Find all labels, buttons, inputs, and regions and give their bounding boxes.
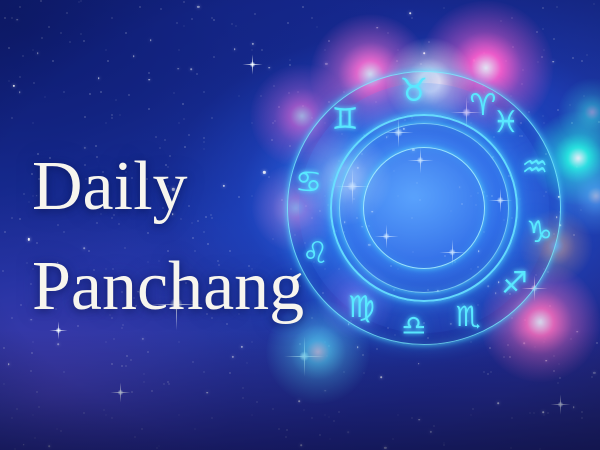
bottom-shade (0, 330, 600, 450)
panchang-banner: ♈♉♊♋♌♍♎♏♐♑♒♓ Daily Panchang (0, 0, 600, 450)
page-title: Daily Panchang (32, 151, 362, 323)
title-line-2: Panchang (32, 251, 362, 323)
title-line-1: Daily (32, 151, 362, 223)
